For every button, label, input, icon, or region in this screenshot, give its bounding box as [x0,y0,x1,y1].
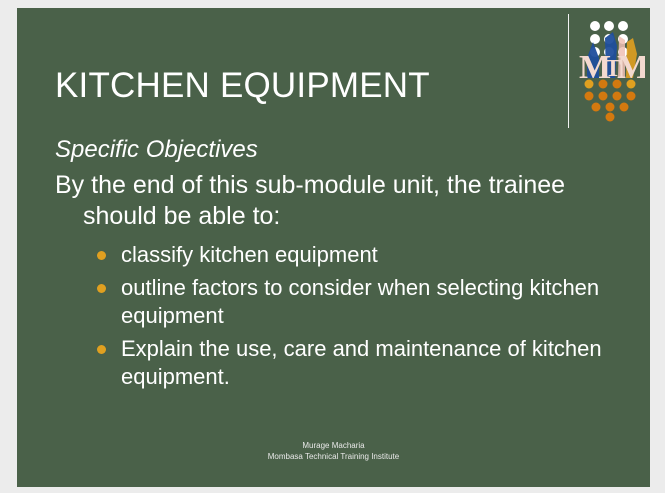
institute-logo-graphic: M T M [575,12,645,122]
slide-body: Specific Objectives By the end of this s… [55,133,633,396]
list-item: outline factors to consider when selecti… [95,274,633,330]
list-item: Explain the use, care and maintenance of… [95,335,633,391]
footer-author: Murage Macharia [17,440,650,451]
list-item-label: classify kitchen equipment [121,242,378,267]
institute-logo: M T M [575,12,645,122]
objectives-list: classify kitchen equipment outline facto… [55,241,633,391]
slide-footer: Murage Macharia Mombasa Technical Traini… [17,440,650,462]
bullet-dot-icon [97,251,106,260]
bullet-dot-icon [97,345,106,354]
objectives-lead-line-1: By the end of this sub-module unit, the … [55,171,565,199]
footer-institution: Mombasa Technical Training Institute [17,451,650,462]
list-item-label: Explain the use, care and maintenance of… [121,336,602,389]
bullet-dot-icon [97,284,106,293]
slide-title: KITCHEN EQUIPMENT [55,65,430,107]
logo-divider [568,14,569,128]
objectives-lead-line-2: should be able to: [55,201,633,232]
objectives-subheading: Specific Objectives [55,133,633,166]
list-item: classify kitchen equipment [95,241,633,269]
list-item-label: outline factors to consider when selecti… [121,275,599,328]
presentation-slide: KITCHEN EQUIPMENT [17,8,650,487]
slide-canvas: KITCHEN EQUIPMENT [0,0,665,493]
objectives-lead-text: By the end of this sub-module unit, the … [55,170,633,232]
